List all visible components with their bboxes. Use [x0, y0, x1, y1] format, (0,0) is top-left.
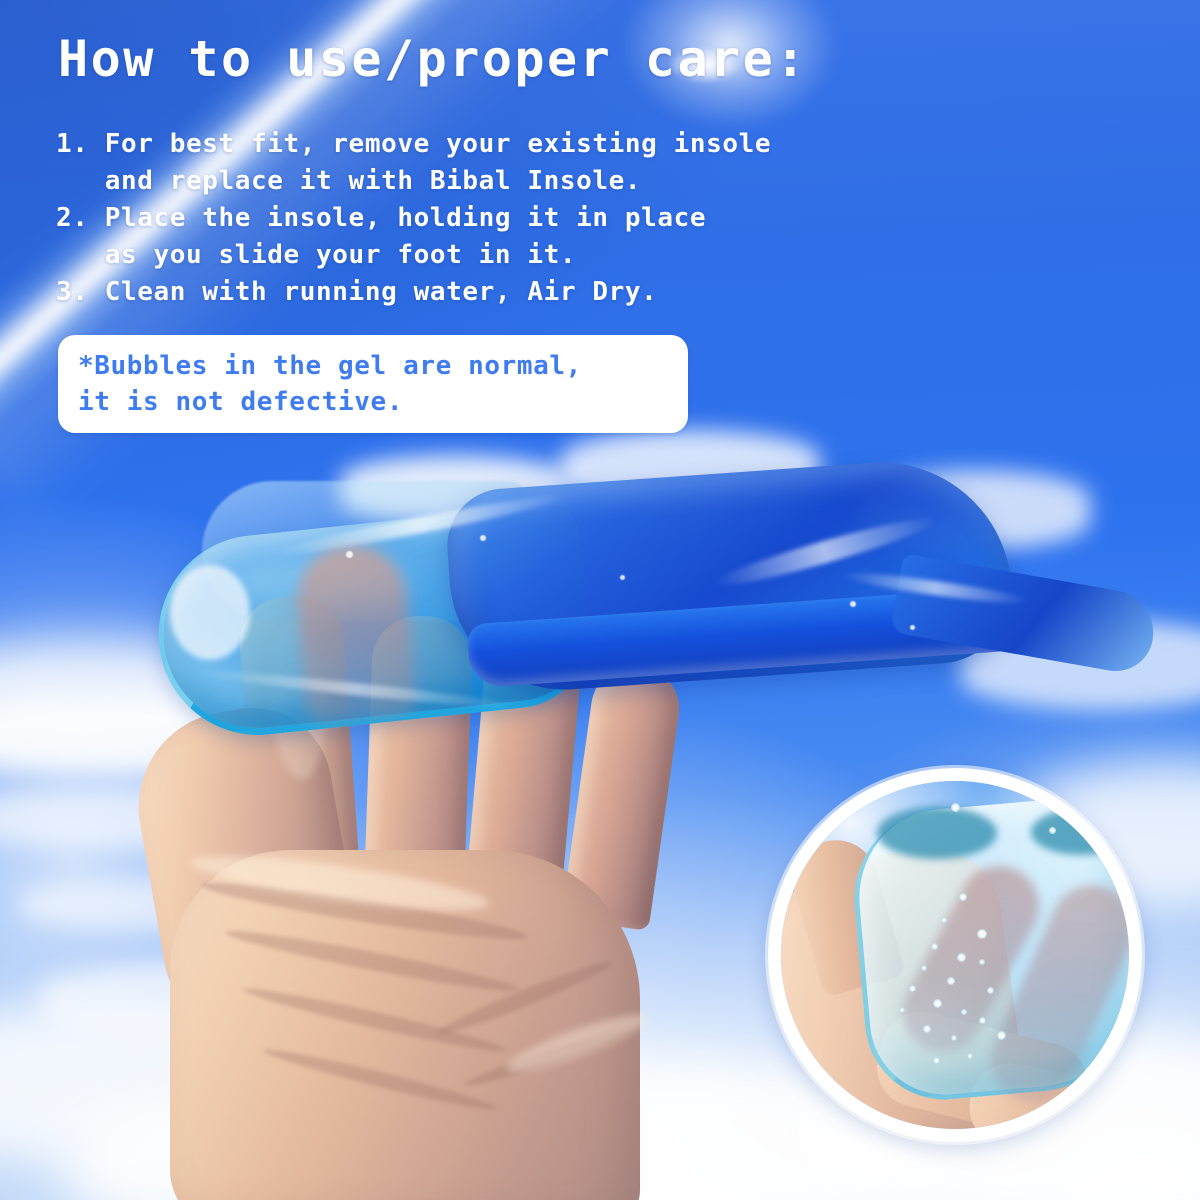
- product-infographic: How to use/proper care: 1. For best fit,…: [0, 0, 1200, 1200]
- gel-bubble: [961, 1009, 967, 1015]
- gel-bubble: [923, 1025, 931, 1033]
- note-line: *Bubbles in the gel are normal,: [78, 348, 582, 384]
- gel-bubble: [909, 985, 916, 992]
- gel-bubble: [979, 1017, 986, 1024]
- gel-bubble: [941, 917, 947, 923]
- note-callout-box: *Bubbles in the gel are normal, it is no…: [58, 335, 688, 433]
- instruction-line: as you slide your foot in it.: [56, 237, 771, 274]
- gel-bubble: [957, 953, 966, 962]
- gel-bubble: [933, 1057, 940, 1064]
- gel-bubble: [987, 987, 994, 994]
- gel-bubble: [951, 803, 960, 812]
- instruction-list: 1. For best fit, remove your existing in…: [56, 126, 771, 311]
- gel-bubble: [979, 959, 985, 965]
- gel-bubble: [959, 893, 967, 901]
- note-line: it is not defective.: [78, 384, 582, 420]
- gel-bubble: [620, 575, 625, 580]
- gel-insole-product: [150, 455, 1030, 745]
- gel-bubble: [967, 1053, 973, 1059]
- instruction-line: 3. Clean with running water, Air Dry.: [56, 274, 771, 311]
- inset-gel-tint: [877, 807, 997, 859]
- instruction-line: and replace it with Bibal Insole.: [56, 163, 771, 200]
- gel-bubble: [899, 1007, 905, 1013]
- gel-bubble: [346, 551, 353, 558]
- gel-highlight: [170, 565, 250, 660]
- gel-bubble: [997, 1031, 1006, 1040]
- inset-gel-tint: [1031, 809, 1131, 855]
- instruction-line: 1. For best fit, remove your existing in…: [56, 126, 771, 163]
- gel-bubble: [850, 601, 856, 607]
- gel-bubble: [931, 943, 938, 950]
- closeup-inset-circle: [768, 768, 1142, 1142]
- gel-bubble: [921, 965, 927, 971]
- gel-bubble: [947, 977, 955, 985]
- page-title: How to use/proper care:: [58, 30, 808, 88]
- gel-bubble: [977, 929, 987, 939]
- gel-bubble: [933, 999, 942, 1008]
- note-text: *Bubbles in the gel are normal, it is no…: [58, 348, 582, 420]
- gel-bubble: [951, 1035, 957, 1041]
- gel-bubble: [1049, 827, 1056, 834]
- gel-bubble: [910, 625, 915, 630]
- instruction-line: 2. Place the insole, holding it in place: [56, 200, 771, 237]
- gel-bubble: [480, 535, 486, 541]
